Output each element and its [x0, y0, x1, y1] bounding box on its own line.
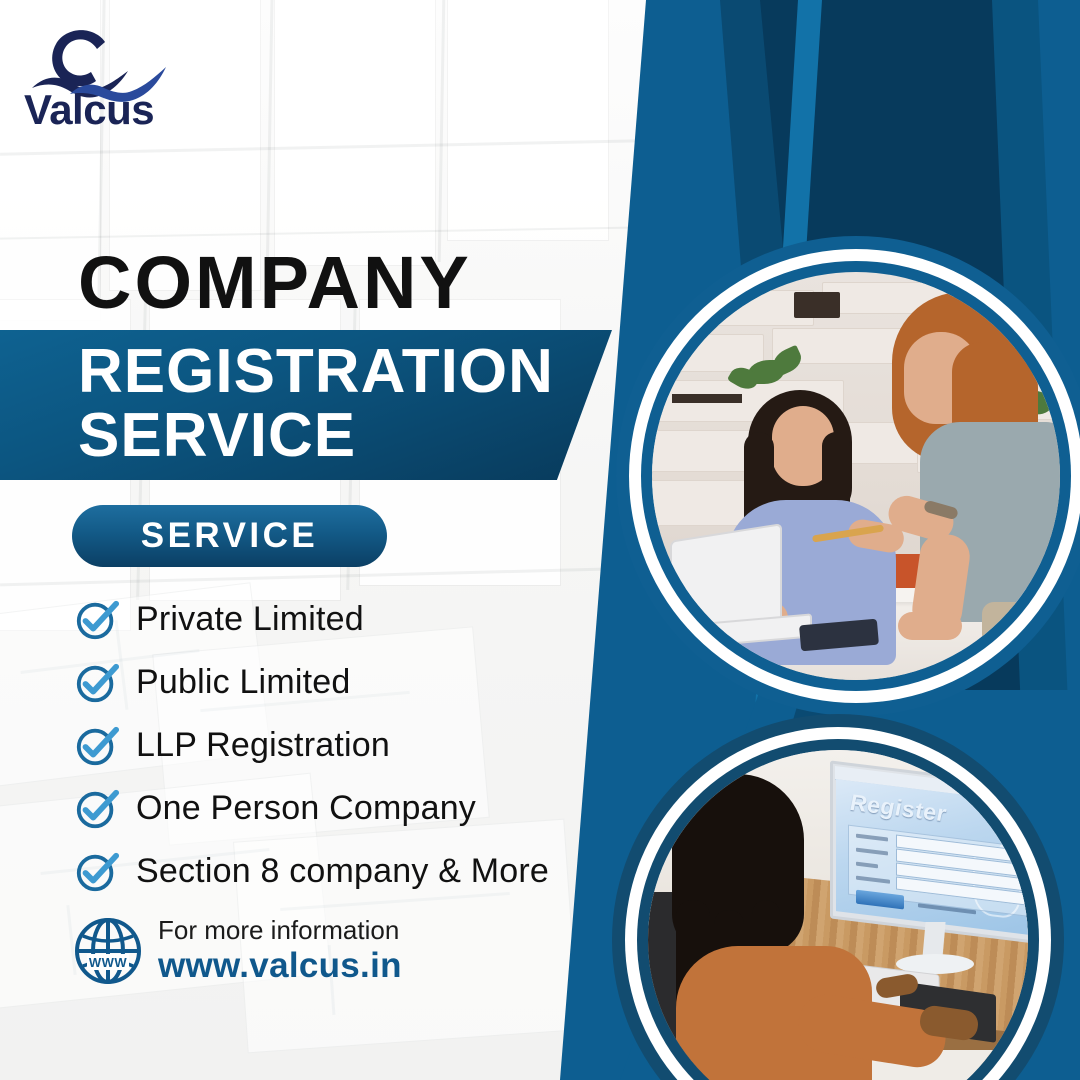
top-photo	[652, 272, 1060, 680]
check-circle-icon	[74, 723, 120, 769]
list-item[interactable]: Private Limited	[74, 588, 594, 651]
contact-text-group: For more information www.valcus.in	[158, 916, 402, 986]
list-item[interactable]: Section 8 company & More	[74, 840, 594, 903]
headline-line3: SERVICE	[78, 404, 638, 468]
service-badge-label: SERVICE	[141, 516, 319, 556]
list-item-label: Section 8 company & More	[136, 852, 549, 891]
contact-footer: WWW For more information www.valcus.in	[72, 915, 402, 987]
headline-line2: REGISTRATION	[78, 340, 638, 404]
list-item-label: LLP Registration	[136, 726, 390, 765]
check-circle-icon	[74, 597, 120, 643]
check-circle-icon	[74, 849, 120, 895]
list-item-label: Public Limited	[136, 663, 350, 702]
svg-text:Valcus: Valcus	[24, 86, 154, 130]
list-item[interactable]: Public Limited	[74, 651, 594, 714]
check-circle-icon	[74, 786, 120, 832]
website-url[interactable]: www.valcus.in	[158, 946, 402, 986]
brand-logo[interactable]: Valcus	[18, 20, 188, 130]
valcus-c-wave-icon: Valcus	[18, 20, 188, 130]
service-list: Private Limited Public Limited LLP Regis…	[74, 588, 594, 903]
globe-www-label: WWW	[89, 955, 128, 970]
service-badge[interactable]: SERVICE	[72, 505, 387, 567]
list-item-label: Private Limited	[136, 600, 364, 639]
check-circle-icon	[74, 660, 120, 706]
bottom-photo: Register	[648, 750, 1028, 1080]
headline-banner-text: REGISTRATION SERVICE	[78, 340, 638, 468]
list-item[interactable]: LLP Registration	[74, 714, 594, 777]
globe-www-icon: WWW	[72, 915, 144, 987]
register-screen-title: Register	[850, 789, 946, 828]
page-title: COMPANY	[78, 246, 472, 320]
contact-note: For more information	[158, 916, 402, 946]
list-item-label: One Person Company	[136, 789, 476, 828]
poster-canvas: Valcus COMPANY REGISTRATION SERVICE SERV…	[0, 0, 1080, 1080]
list-item[interactable]: One Person Company	[74, 777, 594, 840]
